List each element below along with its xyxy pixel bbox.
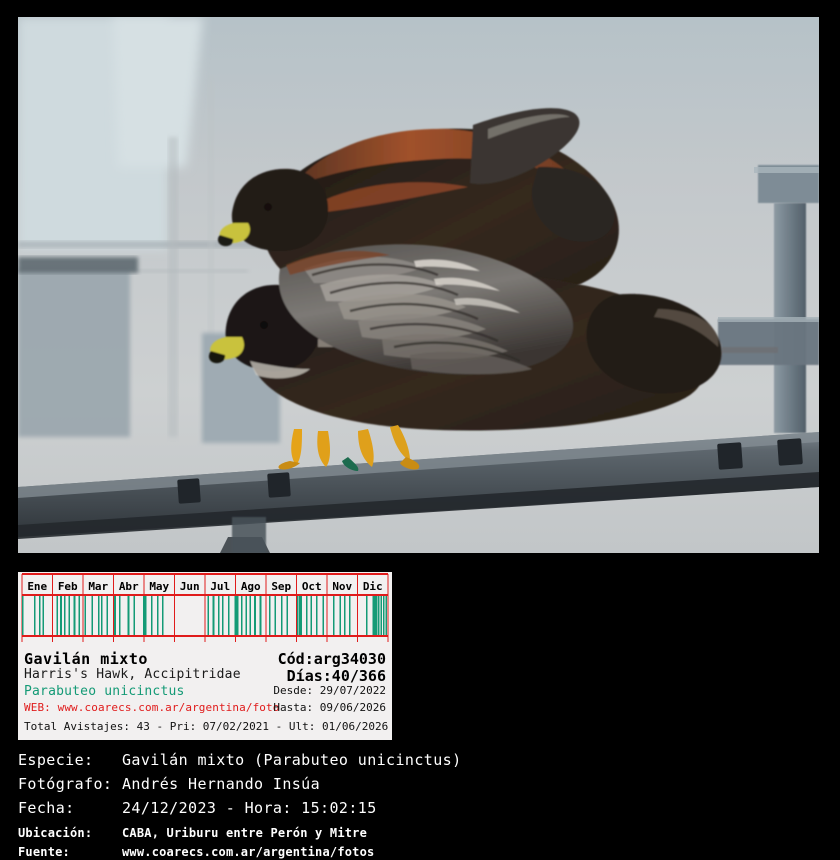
ubicacion-label: Ubicación: [18, 826, 122, 840]
meta-row-fotografo: Fotógrafo:Andrés Hernando Insúa [18, 774, 824, 798]
calendar-month-label: Abr [119, 580, 139, 593]
species-code: Cód:arg34030 [278, 650, 386, 668]
row-scientific-name: Parabuteo unicinctus Desde: 29/07/2022 [24, 684, 386, 701]
calendar-svg: EneFebMarAbrMayJunJulAgoSepOctNovDic [18, 572, 392, 648]
monthly-sightings-calendar: EneFebMarAbrMayJunJulAgoSepOctNovDic [18, 572, 392, 648]
ubicacion-value: CABA, Uriburu entre Perón y Mitre [122, 826, 367, 840]
species-summary-card: EneFebMarAbrMayJunJulAgoSepOctNovDic Gav… [18, 572, 392, 740]
species-scientific-name: Parabuteo unicinctus [24, 684, 185, 699]
calendar-month-label: Jun [180, 580, 200, 593]
calendar-month-label: Feb [58, 580, 78, 593]
meta-row-ubicacion: Ubicación:CABA, Uriburu entre Perón y Mi… [18, 822, 824, 841]
calendar-month-label: Dic [363, 580, 383, 593]
species-days: Días:40/366 [287, 667, 386, 685]
calendar-month-label: Ene [27, 580, 47, 593]
row-english-name: Harris's Hawk, Accipitridae Días:40/366 [24, 667, 386, 684]
fuente-label: Fuente: [18, 845, 122, 859]
especie-label: Especie: [18, 751, 122, 769]
calendar-month-label: Oct [302, 580, 322, 593]
fuente-value[interactable]: www.coarecs.com.ar/argentina/fotos [122, 845, 374, 859]
fotografo-label: Fotógrafo: [18, 775, 122, 793]
calendar-month-label: May [149, 580, 169, 593]
fotografo-value: Andrés Hernando Insúa [122, 775, 320, 793]
fecha-label: Fecha: [18, 799, 122, 817]
photo-metadata: Especie:Gavilán mixto (Parabuteo unicinc… [18, 750, 824, 860]
date-hasta: Hasta: 09/06/2026 [273, 701, 386, 714]
calendar-month-label: Sep [271, 580, 291, 593]
species-common-name: Gavilán mixto [24, 650, 148, 668]
meta-row-especie: Especie:Gavilán mixto (Parabuteo unicinc… [18, 750, 824, 774]
bird-photograph [18, 17, 819, 553]
web-link[interactable]: WEB: www.coarecs.com.ar/argentina/foto [24, 701, 279, 714]
especie-value: Gavilán mixto (Parabuteo unicinctus) [122, 751, 462, 769]
photo-record-page: EneFebMarAbrMayJunJulAgoSepOctNovDic Gav… [0, 0, 840, 854]
fecha-value: 24/12/2023 - Hora: 15:02:15 [122, 799, 377, 817]
calendar-month-label: Jul [210, 580, 230, 593]
meta-row-fuente: Fuente:www.coarecs.com.ar/argentina/foto… [18, 841, 824, 860]
total-sightings-line: Total Avistajes: 43 - Pri: 07/02/2021 - … [18, 720, 392, 733]
row-web: WEB: www.coarecs.com.ar/argentina/foto H… [24, 701, 386, 718]
calendar-month-label: Ago [241, 580, 261, 593]
date-desde: Desde: 29/07/2022 [273, 684, 386, 697]
row-common-name: Gavilán mixto Cód:arg34030 [24, 650, 386, 667]
card-info-block: Gavilán mixto Cód:arg34030 Harris's Hawk… [18, 648, 392, 718]
calendar-month-label: Mar [88, 580, 108, 593]
meta-row-fecha: Fecha:24/12/2023 - Hora: 15:02:15 [18, 798, 824, 822]
calendar-month-label: Nov [332, 580, 352, 593]
photo-illustration [18, 17, 819, 553]
species-english-name: Harris's Hawk, Accipitridae [24, 667, 241, 682]
